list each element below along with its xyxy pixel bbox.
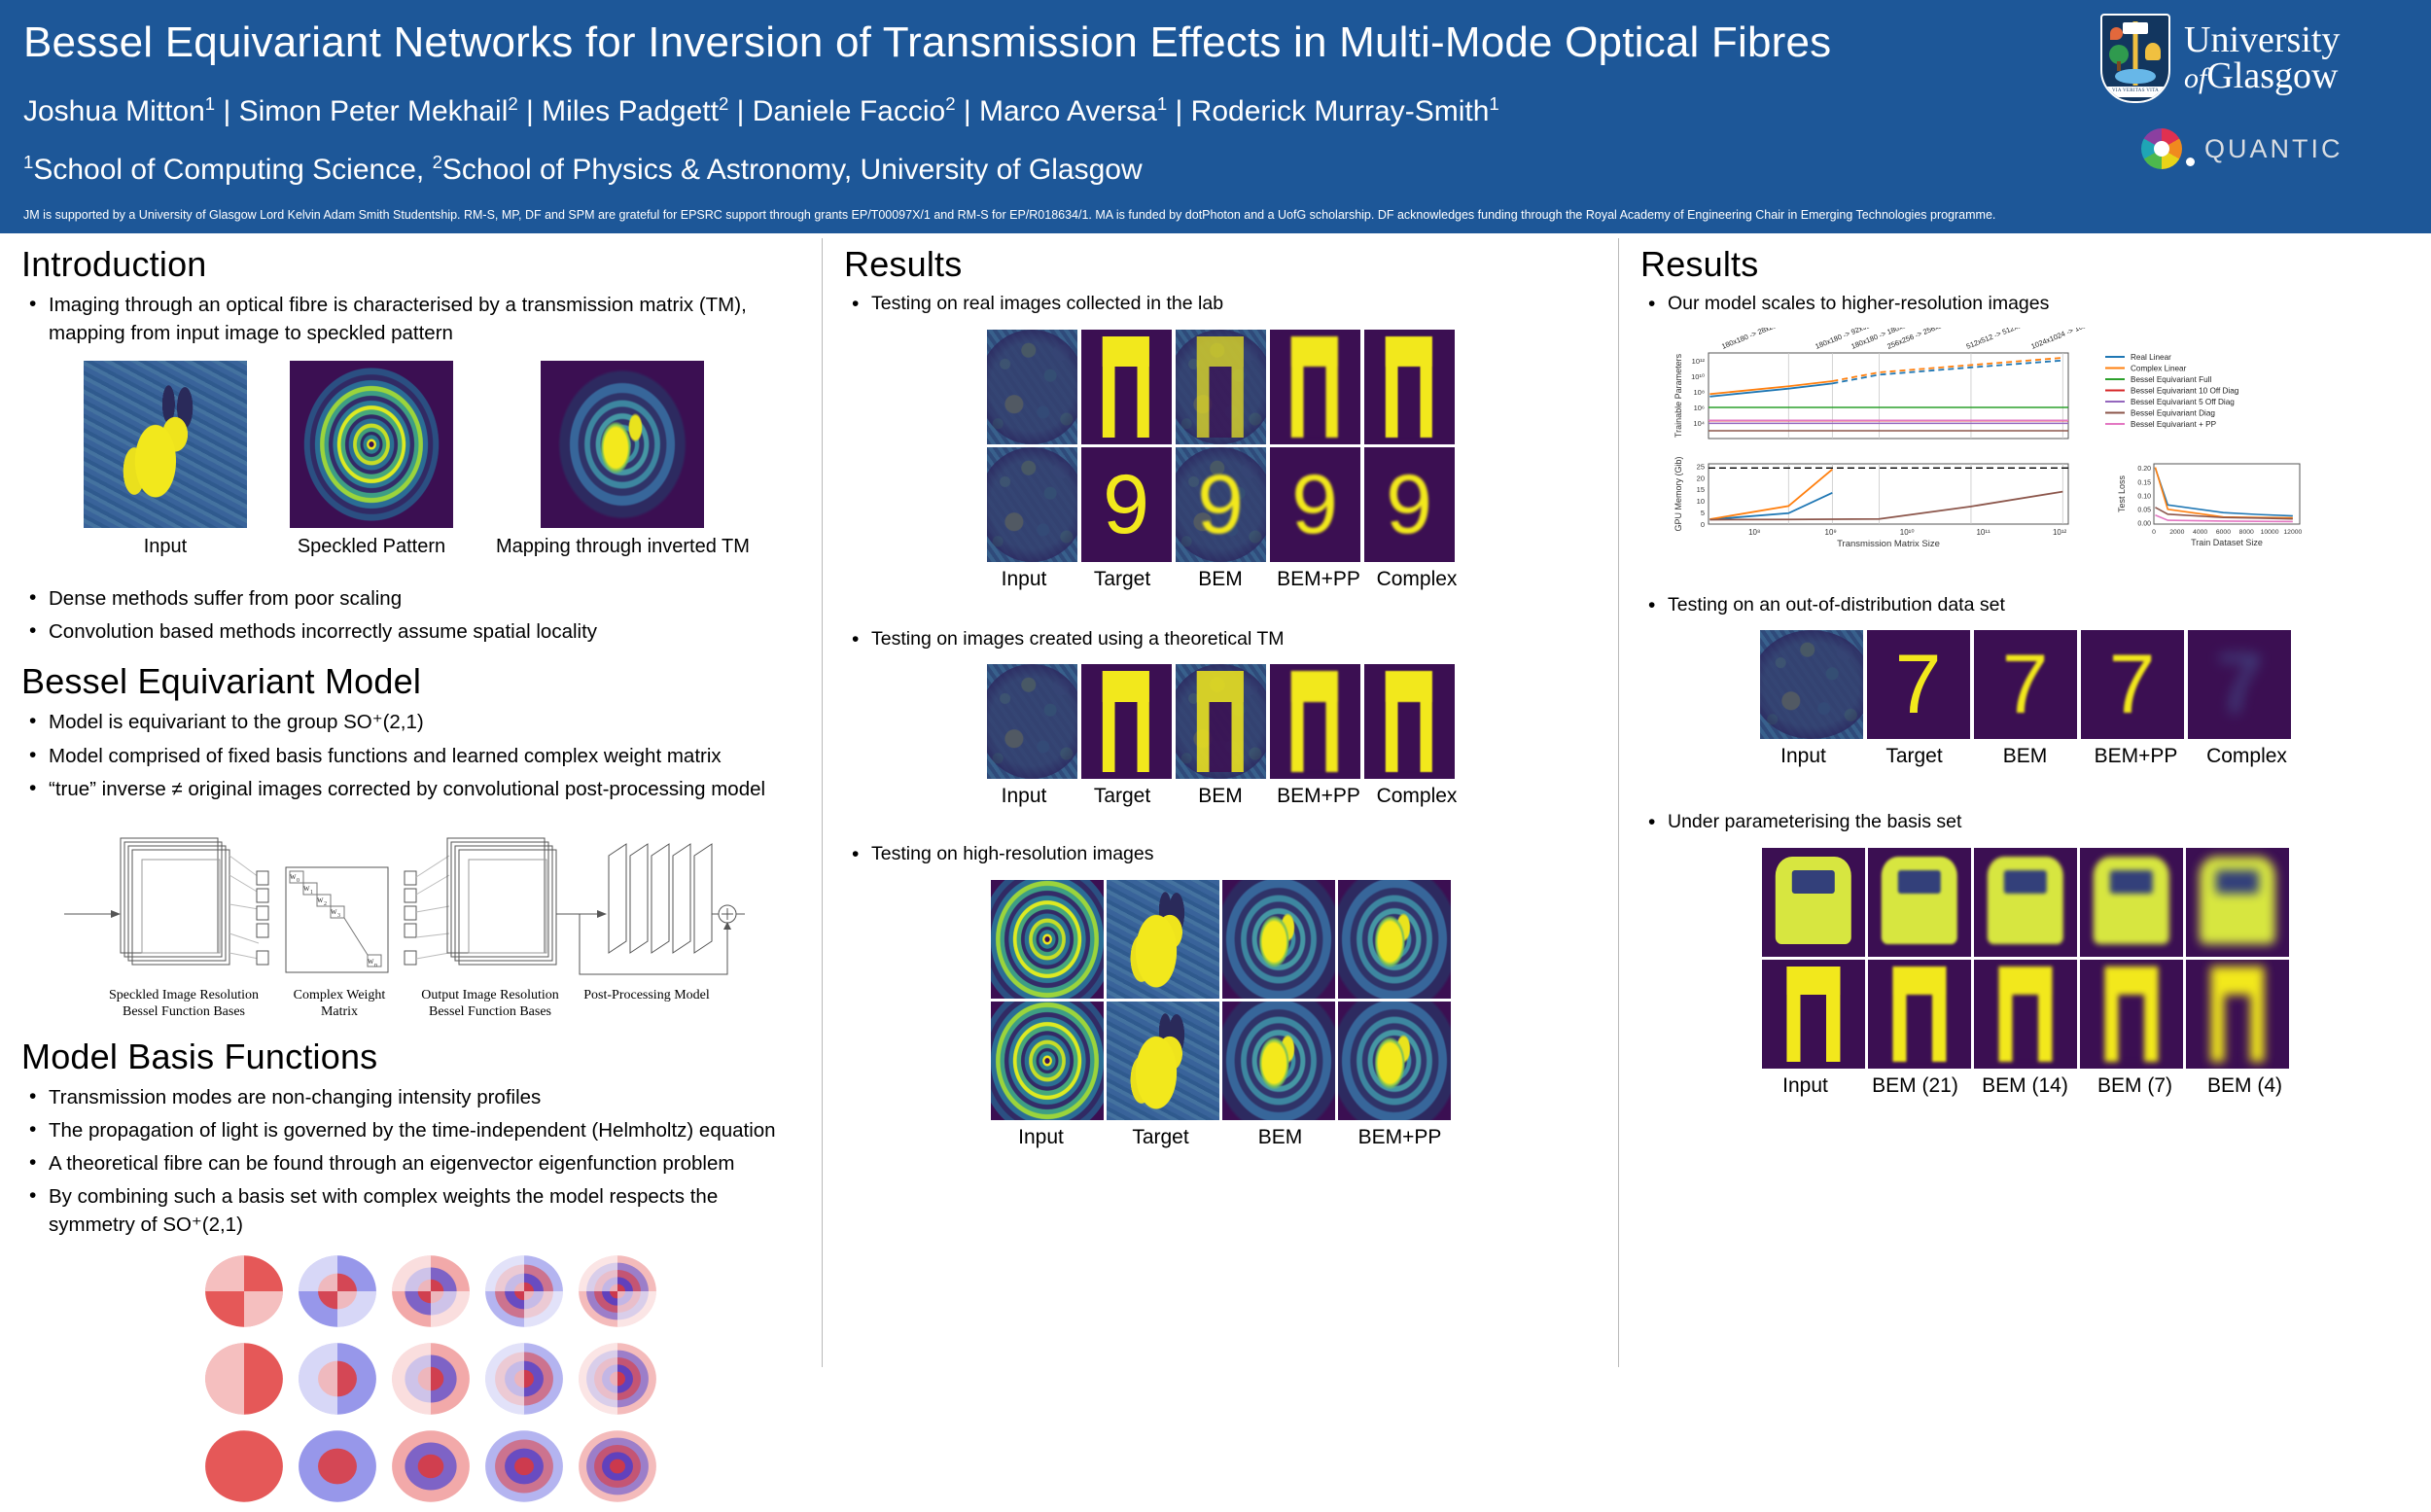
result-label: BEM (7): [2082, 1074, 2188, 1098]
svg-text:12000: 12000: [2283, 529, 2302, 536]
basis-function-image: [480, 1425, 568, 1507]
section-heading-bessel-model: Bessel Equivariant Model: [21, 661, 806, 702]
result-label: BEM+PP: [1342, 1126, 1458, 1149]
basis-function-image: [480, 1250, 568, 1332]
result-labels-lab: InputTargetBEMBEM+PPComplex: [838, 568, 1603, 591]
logo-group: VIA VERITAS VITA University ofGlasgow QU…: [2100, 14, 2412, 169]
result-label: BEM (14): [1972, 1074, 2078, 1098]
introduction-bullets-bottom: Dense methods suffer from poor scaling C…: [21, 584, 806, 646]
result-cell: [1176, 330, 1266, 444]
svg-text:w: w: [303, 883, 310, 893]
image-speckled-pattern: [290, 361, 453, 528]
architecture-diagram-captions: Speckled Image Resolution Bessel Functio…: [64, 987, 745, 1021]
result-cell: [1762, 960, 1865, 1069]
result-cell: 7: [2081, 630, 2184, 739]
result-strip-ood: 7 7 7 7: [1635, 630, 2415, 739]
list-item: Model is equivariant to the group SO⁺(2,…: [21, 708, 806, 736]
svg-text:10⁸: 10⁸: [1693, 388, 1705, 397]
result-image: [1974, 960, 2077, 1069]
result-label: BEM: [1222, 1126, 1338, 1149]
result-label: Complex: [1370, 568, 1464, 591]
section-heading-results-middle: Results: [844, 244, 1603, 285]
result-label: Input: [977, 785, 1072, 808]
svg-text:w: w: [317, 895, 324, 904]
figure-caption: Mapping through inverted TM: [496, 535, 750, 559]
result-label: BEM (4): [2192, 1074, 2298, 1098]
svg-text:15: 15: [1697, 485, 1705, 494]
result-image: 9: [1364, 447, 1455, 562]
quantic-dot-icon: [2186, 158, 2195, 166]
result-cell: 7: [2188, 630, 2291, 739]
result-cell: [1270, 330, 1360, 444]
svg-text:0.20: 0.20: [2137, 466, 2151, 473]
result-cell: 9: [1364, 447, 1455, 562]
svg-text:1: 1: [310, 890, 313, 896]
basis-function-image: [200, 1338, 288, 1420]
result-cell: [1868, 960, 1971, 1069]
svg-text:w: w: [331, 906, 337, 916]
result-label: Input: [1750, 745, 1857, 768]
logo-line-of: of: [2184, 62, 2206, 94]
basis-function-image: [387, 1425, 475, 1507]
glasgow-crest-icon: VIA VERITAS VITA: [2100, 14, 2170, 103]
results-bullet-highres: Testing on high-resolution images: [844, 841, 1603, 868]
figure-input: Input: [84, 361, 247, 559]
svg-text:GPU Memory (Gib): GPU Memory (Gib): [1674, 456, 1683, 531]
basis-function-image: [200, 1250, 288, 1332]
results-bullet-underparam: Under parameterising the basis set: [1640, 809, 2415, 836]
result-image: [1081, 330, 1172, 444]
svg-text:6000: 6000: [2216, 529, 2231, 536]
result-image: [1222, 880, 1335, 999]
svg-text:10¹²: 10¹²: [1692, 357, 1706, 366]
result-label: Input: [977, 568, 1072, 591]
section-heading-basis-functions: Model Basis Functions: [21, 1037, 806, 1077]
affiliations: 1School of Computing Science, 2School of…: [23, 154, 2408, 187]
result-cell: [987, 447, 1077, 562]
result-label: BEM: [1174, 568, 1268, 591]
result-strip-theoretical: [838, 664, 1603, 779]
result-cell: [1270, 664, 1360, 779]
result-image: [2080, 960, 2183, 1069]
svg-text:Bessel Equivariant Full: Bessel Equivariant Full: [2131, 375, 2211, 384]
svg-text:Bessel Equivariant 10 Off Diag: Bessel Equivariant 10 Off Diag: [2131, 386, 2239, 395]
svg-text:25: 25: [1697, 462, 1705, 471]
list-item: Model comprised of fixed basis functions…: [21, 742, 806, 770]
result-image: [1974, 848, 2077, 957]
results-bullet-ood: Testing on an out-of-distribution data s…: [1640, 592, 2415, 619]
svg-text:10¹¹: 10¹¹: [1976, 528, 1991, 537]
result-labels-theoretical: InputTargetBEMBEM+PPComplex: [838, 785, 1603, 808]
result-label: BEM+PP: [2083, 745, 2190, 768]
list-item: Testing on real images collected in the …: [844, 291, 1603, 318]
quantic-hex-icon: [2141, 128, 2182, 169]
svg-text:10¹²: 10¹²: [2053, 528, 2067, 537]
svg-text:Complex Linear: Complex Linear: [2131, 364, 2187, 372]
result-cell: [2080, 848, 2183, 957]
svg-text:0.10: 0.10: [2137, 493, 2151, 500]
svg-text:3: 3: [337, 913, 340, 919]
result-cell: [1974, 848, 2077, 957]
result-image: [1176, 330, 1266, 444]
result-label: BEM+PP: [1272, 785, 1366, 808]
result-cell: [2080, 960, 2183, 1069]
result-cell: 9: [1270, 447, 1360, 562]
result-image: [1270, 664, 1360, 779]
basis-function-image: [574, 1338, 661, 1420]
result-image: [991, 1002, 1104, 1120]
result-image: [1760, 630, 1863, 739]
svg-text:Trainable Parameters: Trainable Parameters: [1674, 353, 1683, 438]
result-cell: [1364, 330, 1455, 444]
result-image: [987, 664, 1077, 779]
result-label: BEM+PP: [1272, 568, 1366, 591]
result-cell: [1222, 880, 1335, 999]
list-item: Testing on images created using a theore…: [844, 626, 1603, 653]
svg-text:0: 0: [2152, 529, 2156, 536]
basis-bullets: Transmission modes are non-changing inte…: [21, 1083, 806, 1240]
svg-text:10⁴: 10⁴: [1693, 419, 1705, 428]
result-label: Input: [983, 1126, 1099, 1149]
basis-function-image: [574, 1250, 661, 1332]
result-cell: [987, 330, 1077, 444]
section-heading-results-right: Results: [1640, 244, 2415, 285]
result-cell: [1364, 664, 1455, 779]
basis-function-image: [294, 1250, 381, 1332]
result-image: [1868, 960, 1971, 1069]
list-item: Our model scales to higher-resolution im…: [1640, 291, 2415, 318]
result-image: [1364, 330, 1455, 444]
crest-motto: VIA VERITAS VITA: [2106, 86, 2165, 98]
result-image: [1338, 1002, 1451, 1120]
result-cell: [1222, 1002, 1335, 1120]
result-cell: [1760, 630, 1863, 739]
basis-function-image: [574, 1425, 661, 1507]
result-image: [2186, 960, 2289, 1069]
list-item: Dense methods suffer from poor scaling: [21, 584, 806, 613]
svg-text:10⁸: 10⁸: [1748, 528, 1760, 537]
svg-text:0: 0: [1701, 520, 1705, 529]
author-list: Joshua Mitton1 | Simon Peter Mekhail2 | …: [23, 95, 2408, 128]
basis-function-image: [387, 1250, 475, 1332]
logo-line-glasgow: Glasgow: [2206, 55, 2338, 96]
result-cell: [1338, 880, 1451, 999]
figure-inverted-tm: Mapping through inverted TM: [496, 361, 750, 559]
result-image: [2186, 848, 2289, 957]
university-of-glasgow-logo: VIA VERITAS VITA University ofGlasgow: [2100, 14, 2412, 103]
result-image: [987, 330, 1077, 444]
diagram-label: Output Image Resolution Bessel Function …: [412, 987, 568, 1021]
result-labels-highres: InputTargetBEMBEM+PP: [838, 1126, 1603, 1149]
svg-text:10: 10: [1697, 497, 1705, 506]
result-image: [1107, 880, 1219, 999]
svg-text:Bessel Equivariant 5 Off Diag: Bessel Equivariant 5 Off Diag: [2131, 398, 2235, 406]
result-image: [1107, 1002, 1219, 1120]
column-middle: Results Testing on real images collected…: [822, 238, 1619, 1367]
logo-line-university: University: [2184, 22, 2340, 58]
results-bullet-scaling: Our model scales to higher-resolution im…: [1640, 291, 2415, 318]
result-cell: [987, 664, 1077, 779]
scaling-chart-figure: 10⁴10⁶10⁸10¹⁰10¹²Trainable Parameters180…: [1648, 328, 2416, 551]
svg-text:1024x1024 -> 1024x1024: 1024x1024 -> 1024x1024: [2029, 328, 2109, 351]
quantic-wordmark: QUANTIC: [2204, 134, 2343, 164]
funding-acknowledgement: JM is supported by a University of Glasg…: [23, 208, 2408, 222]
architecture-svg: w0 w1 w2 w3 wn: [64, 817, 745, 987]
svg-text:10⁹: 10⁹: [1825, 528, 1837, 537]
svg-text:2000: 2000: [2169, 529, 2184, 536]
diagram-label: Complex Weight Matrix: [276, 987, 403, 1021]
poster-header: Bessel Equivariant Networks for Inversio…: [0, 0, 2431, 233]
result-strip-highres: [838, 880, 1603, 1120]
svg-text:Train Dataset Size: Train Dataset Size: [2191, 538, 2263, 547]
result-labels-ood: InputTargetBEMBEM+PPComplex: [1635, 745, 2415, 768]
list-item: By combining such a basis set with compl…: [21, 1182, 806, 1239]
results-bullet-theoretical: Testing on images created using a theore…: [844, 626, 1603, 653]
basis-function-image: [480, 1338, 568, 1420]
result-cell: [1974, 960, 2077, 1069]
result-image: [1364, 664, 1455, 779]
result-image: [1762, 960, 1865, 1069]
result-label: BEM: [1972, 745, 2079, 768]
result-image: 9: [1176, 447, 1266, 562]
results-bullet-lab: Testing on real images collected in the …: [844, 291, 1603, 318]
result-cell: [991, 880, 1104, 999]
list-item: Convolution based methods incorrectly as…: [21, 617, 806, 646]
result-image: 7: [2188, 630, 2291, 739]
result-cell: [1081, 664, 1172, 779]
svg-text:10⁶: 10⁶: [1694, 404, 1705, 412]
result-label: BEM (21): [1862, 1074, 1968, 1098]
svg-text:4000: 4000: [2193, 529, 2207, 536]
result-label: Target: [1075, 568, 1170, 591]
list-item: Transmission modes are non-changing inte…: [21, 1083, 806, 1111]
svg-text:10¹⁰: 10¹⁰: [1900, 528, 1915, 537]
list-item: A theoretical fibre can be found through…: [21, 1149, 806, 1178]
basis-function-image: [387, 1338, 475, 1420]
result-strip-underparam: [1635, 848, 2415, 1069]
result-cell: 7: [1974, 630, 2077, 739]
svg-text:10¹⁰: 10¹⁰: [1691, 372, 1705, 381]
svg-text:2: 2: [324, 901, 327, 907]
result-cell: 9: [1081, 447, 1172, 562]
result-cell: [1107, 1002, 1219, 1120]
result-image: 7: [2081, 630, 2184, 739]
model-bullets: Model is equivariant to the group SO⁺(2,…: [21, 708, 806, 802]
list-item: The propagation of light is governed by …: [21, 1116, 806, 1144]
page-title: Bessel Equivariant Networks for Inversio…: [23, 19, 2408, 66]
result-cell: [1081, 330, 1172, 444]
basis-function-image: [294, 1425, 381, 1507]
basis-function-image: [294, 1338, 381, 1420]
poster-body: Introduction Imaging through an optical …: [0, 238, 2431, 1367]
list-item: “true” inverse ≠ original images correct…: [21, 775, 806, 803]
result-label: Target: [1861, 745, 1968, 768]
svg-text:20: 20: [1697, 474, 1705, 482]
quantic-logo: QUANTIC: [2141, 128, 2412, 169]
basis-function-grid: [200, 1250, 806, 1507]
result-image: 9: [1081, 447, 1172, 562]
result-image: [987, 447, 1077, 562]
svg-text:Real Linear: Real Linear: [2131, 353, 2171, 362]
result-labels-underparam: InputBEM (21)BEM (14)BEM (7)BEM (4): [1635, 1074, 2415, 1098]
svg-text:Transmission Matrix Size: Transmission Matrix Size: [1837, 539, 1940, 549]
result-label: Target: [1075, 785, 1170, 808]
result-cell: [2186, 848, 2289, 957]
svg-text:512x512 -> 512x512: 512x512 -> 512x512: [1965, 328, 2030, 351]
svg-text:10000: 10000: [2261, 529, 2279, 536]
svg-text:5: 5: [1701, 509, 1705, 517]
svg-text:0.05: 0.05: [2137, 507, 2151, 513]
result-label: BEM: [1174, 785, 1268, 808]
result-image: [1338, 880, 1451, 999]
svg-text:w: w: [368, 956, 374, 966]
svg-text:Bessel Equivariant Diag: Bessel Equivariant Diag: [2131, 408, 2215, 417]
svg-text:180x180 -> 28x28: 180x180 -> 28x28: [1720, 328, 1778, 351]
section-heading-introduction: Introduction: [21, 244, 806, 285]
result-image: 7: [1867, 630, 1970, 739]
result-cell: 7: [1867, 630, 1970, 739]
figure-caption: Input: [144, 535, 187, 559]
introduction-figure-row: Input Speckled Pattern Mapping through i…: [84, 361, 806, 559]
svg-text:0: 0: [297, 878, 299, 884]
image-input-rabbit: [84, 361, 247, 528]
result-label: Complex: [1370, 785, 1464, 808]
svg-text:w: w: [290, 871, 297, 881]
result-label: Complex: [2194, 745, 2301, 768]
list-item: Imaging through an optical fibre is char…: [21, 291, 806, 347]
result-image: 7: [1974, 630, 2077, 739]
result-image: [1222, 1002, 1335, 1120]
result-image: [1868, 848, 1971, 957]
result-image: 9: [1270, 447, 1360, 562]
result-strip-lab: 9 9 9 9: [838, 330, 1603, 562]
result-image: [1176, 664, 1266, 779]
result-image: [1762, 848, 1865, 957]
list-item: Under parameterising the basis set: [1640, 809, 2415, 836]
svg-text:0.15: 0.15: [2137, 479, 2151, 486]
result-image: [1270, 330, 1360, 444]
column-left: Introduction Imaging through an optical …: [0, 238, 822, 1367]
scaling-chart-svg: 10⁴10⁶10⁸10¹⁰10¹²Trainable Parameters180…: [1648, 328, 2416, 551]
result-cell: [1107, 880, 1219, 999]
result-cell: [1868, 848, 1971, 957]
result-cell: 9: [1176, 447, 1266, 562]
introduction-bullets-top: Imaging through an optical fibre is char…: [21, 291, 806, 347]
image-mapping-inverted-tm: [541, 361, 704, 528]
result-label: Input: [1752, 1074, 1858, 1098]
diagram-label: Speckled Image Resolution Bessel Functio…: [101, 987, 266, 1021]
basis-function-image: [200, 1425, 288, 1507]
result-image: [2080, 848, 2183, 957]
svg-text:n: n: [374, 963, 377, 968]
svg-text:0.00: 0.00: [2137, 520, 2151, 527]
result-cell: [1338, 1002, 1451, 1120]
result-label: Target: [1103, 1126, 1218, 1149]
result-cell: [2186, 960, 2289, 1069]
architecture-diagram: w0 w1 w2 w3 wn: [64, 817, 745, 987]
result-image: [991, 880, 1104, 999]
poster-root: Bessel Equivariant Networks for Inversio…: [0, 0, 2431, 1367]
diagram-label: Post-Processing Model: [574, 987, 720, 1021]
list-item: Testing on high-resolution images: [844, 841, 1603, 868]
list-item: Testing on an out-of-distribution data s…: [1640, 592, 2415, 619]
column-right: Results Our model scales to higher-resol…: [1619, 238, 2431, 1367]
figure-caption: Speckled Pattern: [298, 535, 445, 559]
figure-speckled: Speckled Pattern: [290, 361, 453, 559]
result-image: [1081, 664, 1172, 779]
result-cell: [1176, 664, 1266, 779]
svg-text:8000: 8000: [2239, 529, 2254, 536]
result-cell: [1762, 848, 1865, 957]
svg-text:Bessel Equivariant + PP: Bessel Equivariant + PP: [2131, 420, 2217, 429]
svg-text:Test Loss: Test Loss: [2117, 475, 2127, 512]
result-cell: [991, 1002, 1104, 1120]
